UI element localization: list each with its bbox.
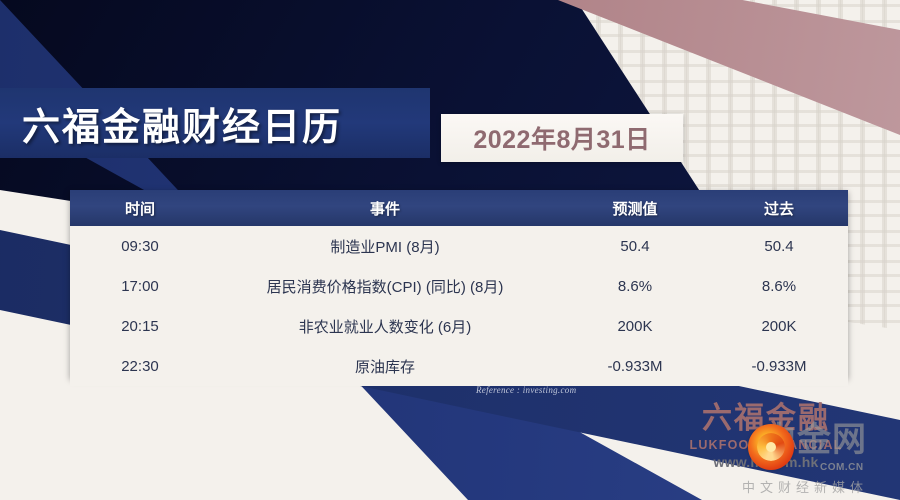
cell-event: 居民消费价格指数(CPI) (同比) (8月) [210,266,560,306]
orb-core [766,442,776,452]
watermark-slogan: 中文财经新媒体 [742,477,868,496]
cell-time: 22:30 [70,346,210,386]
cell-previous: 50.4 [710,226,848,266]
reference-note: Reference : investing.com [476,385,576,395]
cell-time: 17:00 [70,266,210,306]
column-header-time: 时间 [70,190,210,226]
date-panel: 2022年8月31日 [441,114,683,162]
calendar-date: 2022年8月31日 [473,120,650,156]
cell-previous: -0.933M [710,346,848,386]
cell-previous: 8.6% [710,266,848,306]
economic-calendar-table: 时间 事件 预测值 过去 09:30 制造业PMI (8月) 50.4 50.4… [70,190,848,378]
table-row: 17:00 居民消费价格指数(CPI) (同比) (8月) 8.6% 8.6% [70,266,848,306]
calendar-poster: 六福金融财经日历 2022年8月31日 时间 事件 预测值 过去 09:30 制 [0,0,900,500]
cell-forecast: 200K [560,306,710,346]
table-row: 22:30 原油库存 -0.933M -0.933M [70,346,848,386]
page-title: 六福金融财经日历 [22,96,342,151]
table-row: 20:15 非农业就业人数变化 (6月) 200K 200K [70,306,848,346]
column-header-event: 事件 [210,190,560,226]
title-band: 六福金融财经日历 [0,88,430,158]
cell-event: 制造业PMI (8月) [210,226,560,266]
flame-orb-icon [748,424,794,470]
cell-previous: 200K [710,306,848,346]
column-header-previous: 过去 [710,190,848,226]
cell-time: 09:30 [70,226,210,266]
cell-forecast: 50.4 [560,226,710,266]
column-header-forecast: 预测值 [560,190,710,226]
watermark-domain: COM.CN [820,462,864,473]
cell-forecast: 8.6% [560,266,710,306]
table-row: 09:30 制造业PMI (8月) 50.4 50.4 [70,226,848,266]
cell-forecast: -0.933M [560,346,710,386]
cell-event: 非农业就业人数变化 (6月) [210,306,560,346]
table-body: 09:30 制造业PMI (8月) 50.4 50.4 17:00 居民消费价格… [70,226,848,386]
cell-time: 20:15 [70,306,210,346]
cell-event: 原油库存 [210,346,560,386]
table-header-row: 时间 事件 预测值 过去 [70,190,848,226]
